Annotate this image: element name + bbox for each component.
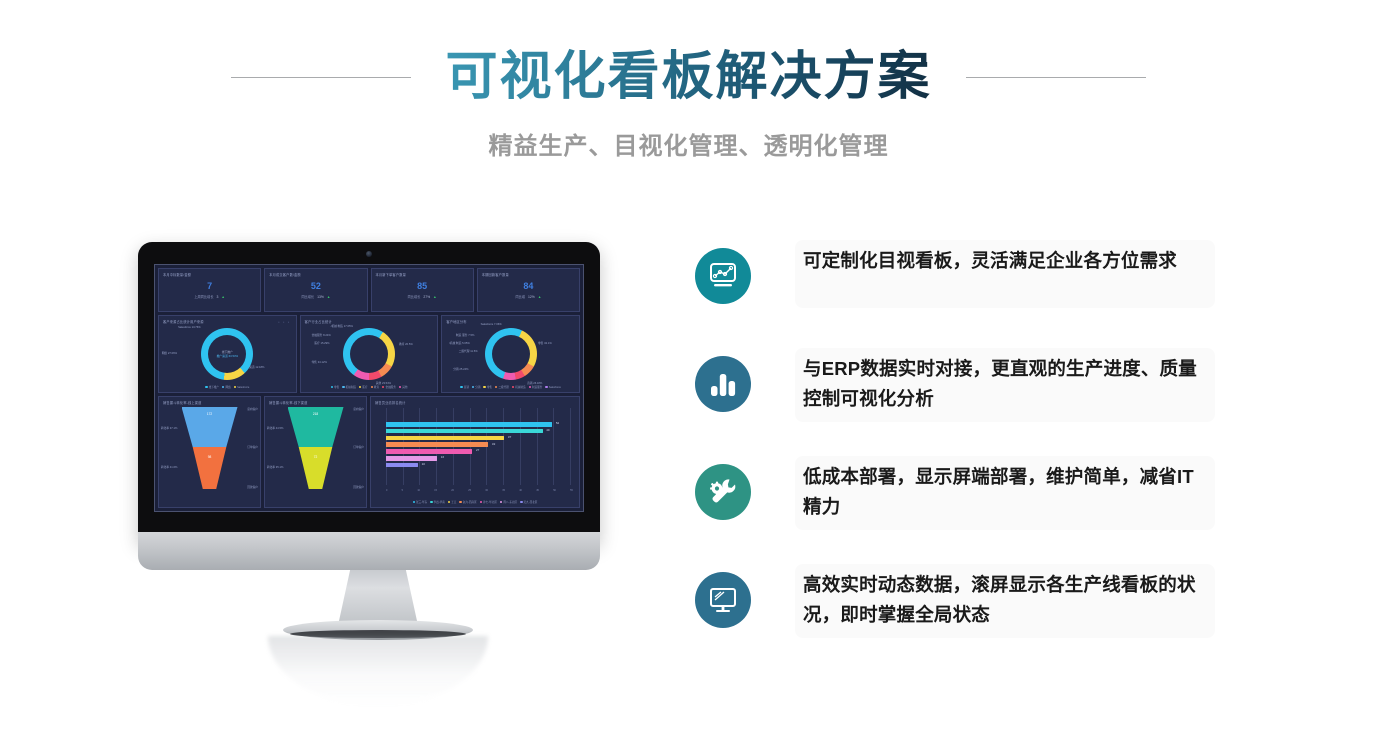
funnel-stage-label: 订单客户 xyxy=(247,445,258,449)
legend-label: 线下推广 xyxy=(209,385,219,389)
legend-swatch xyxy=(342,386,344,388)
donut-center-label: 线下推广推广渠道 63.53% xyxy=(217,350,238,358)
kpi-sub-label: 上周同比增长 xyxy=(194,294,213,299)
feature-item-4: 高效实时动态数据，滚屏显示各生产线看板的状况，即时掌握全局状态 xyxy=(690,564,1230,672)
bar-value: 16 xyxy=(441,455,444,459)
legend-entry: 张三-华东 xyxy=(413,500,428,504)
funnel-top-value: 218 xyxy=(313,412,318,416)
x-tick: 50 xyxy=(553,489,556,492)
wrench-gear-icon xyxy=(695,464,751,520)
funnel-bottom-value: 98 xyxy=(208,455,212,459)
legend-swatch xyxy=(222,386,224,388)
funnel-stage-label: 回款客户 xyxy=(353,485,364,489)
bar: 16 xyxy=(386,456,437,461)
legend-label: 分销 xyxy=(475,385,480,389)
funnel-stage: 21872意向客户订单客户回款客户转化率 44.5%转化率 35.1% xyxy=(265,407,366,501)
kpi-subline: 同比增长13%▲ xyxy=(301,294,330,299)
donut-label: 分销 25.24% xyxy=(453,367,468,371)
kpi-sub-value: 12% xyxy=(528,295,535,299)
monitor-mockup: 本月中标数量/金额7上周同比增长3▲本月成交客户数/金额52同比增长13%▲本月… xyxy=(118,232,638,672)
legend-label: 金融服务 xyxy=(385,385,395,389)
x-tick: 20 xyxy=(451,489,454,492)
legend-label: 零售 xyxy=(487,385,492,389)
kpi-value: 85 xyxy=(417,281,427,292)
legend-label: 制造服务 xyxy=(532,385,542,389)
bar: 37 xyxy=(386,436,504,441)
legend-label: Salesforce xyxy=(549,386,561,389)
bar-chart-legend: 张三-华东李四-华南王五赵六-西南区孙七-华北区周八-东北区吴九-西北区 xyxy=(371,500,579,504)
donut-label: 渠道 12.18% xyxy=(249,365,264,369)
legend-entry: 制造服务 xyxy=(529,385,543,389)
panel-menu-icon[interactable]: • • • xyxy=(278,320,290,324)
legend-entry: 王五 xyxy=(448,500,457,504)
bar: 10 xyxy=(386,463,418,468)
panel-title: 客户来源占比统计用户来源 xyxy=(163,319,204,324)
panel-title: 销售漏斗转化率-线下渠道 xyxy=(269,400,308,405)
kpi-card: 本月成交客户数/金额52同比增长13%▲ xyxy=(264,268,367,312)
legend-entry: 机械制造 xyxy=(342,385,356,389)
panel-title: 客户地区分布 xyxy=(446,319,466,324)
monitor-chin xyxy=(138,532,600,570)
funnel-panel: 销售漏斗转化率-线上渠道17298意向客户订单客户回款客户转化率 37.1%转化… xyxy=(158,396,261,508)
x-tick: 40 xyxy=(519,489,522,492)
feature-text: 低成本部署，显示屏端部署，维护简单，减省IT精力 xyxy=(795,456,1215,530)
legend-label: 孙七-华北区 xyxy=(483,500,497,504)
legend-label: 零售 xyxy=(334,385,339,389)
bar-value: 32 xyxy=(492,442,495,446)
donut-label: 网络 27.06% xyxy=(162,351,177,355)
legend-entry: 教育 xyxy=(371,385,380,389)
x-tick: 35 xyxy=(502,489,505,492)
legend-swatch xyxy=(399,386,401,388)
legend-entry: 零售 xyxy=(331,385,340,389)
kpi-card: 本期回款客户数量84同比增12%▲ xyxy=(477,268,580,312)
funnel-stage-label: 意向客户 xyxy=(353,407,364,411)
legend-swatch xyxy=(331,386,333,388)
x-tick: 30 xyxy=(485,489,488,492)
donut-label: 零售 32.1% xyxy=(538,341,552,345)
title-rule-left xyxy=(231,77,411,78)
legend-swatch xyxy=(545,386,547,388)
monitor-screen: 本月中标数量/金额7上周同比增长3▲本月成交客户数/金额52同比增长13%▲本月… xyxy=(154,264,584,512)
page-title: 可视化看板解决方案 xyxy=(445,45,931,109)
kpi-value: 7 xyxy=(207,281,212,292)
legend-label: 赵六-西南区 xyxy=(463,500,477,504)
legend-label: 医疗 xyxy=(362,385,367,389)
legend-swatch xyxy=(234,386,236,388)
legend-entry: 线下推广 xyxy=(205,385,219,389)
legend-label: Salesforce xyxy=(237,386,249,389)
funnel-bottom-value: 72 xyxy=(314,455,318,459)
legend-swatch xyxy=(512,386,514,388)
donut-panel: 客户来源占比统计用户来源• • •Salesforce 13.76%网络 27.… xyxy=(158,315,297,393)
donut-legend: 直销分销零售二级代理机械制造制造服务Salesforce xyxy=(442,385,579,389)
funnel-stage-label: 意向客户 xyxy=(247,407,258,411)
kpi-value: 84 xyxy=(523,281,533,292)
legend-label: 周八-东北区 xyxy=(503,500,517,504)
legend-entry: Salesforce xyxy=(545,385,561,389)
legend-entry: 孙七-华北区 xyxy=(480,500,497,504)
donut-row: 客户来源占比统计用户来源• • •Salesforce 13.76%网络 27.… xyxy=(158,315,580,393)
kpi-sub-value: 3 xyxy=(217,295,219,299)
legend-label: 其他 xyxy=(402,385,407,389)
kpi-sub-label: 同比增长 xyxy=(301,294,314,299)
webcam-icon xyxy=(366,251,372,257)
legend-entry: 网络 xyxy=(222,385,231,389)
legend-swatch xyxy=(460,386,462,388)
legend-entry: 赵六-西南区 xyxy=(459,500,476,504)
legend-entry: 李四-华南 xyxy=(430,500,445,504)
donut-panel: 客户地区分布Salesforce 7.06%制造 服务 7.5%/机械 制造 5… xyxy=(441,315,580,393)
legend-label: 机械制造 xyxy=(515,385,525,389)
kpi-sub-value: 27% xyxy=(423,295,430,299)
donut-label: 教育 20.5% xyxy=(399,342,413,346)
legend-label: 二级代理 xyxy=(498,385,508,389)
legend-swatch xyxy=(520,501,522,503)
kpi-subline: 上周同比增长3▲ xyxy=(194,294,224,299)
donut-legend: 线下推广网络Salesforce xyxy=(159,385,296,389)
x-tick: 15 xyxy=(434,489,437,492)
legend-label: 网络 xyxy=(225,385,230,389)
donut-legend: 零售机械制造医疗教育金融服务其他 xyxy=(301,385,438,389)
legend-swatch xyxy=(430,501,432,503)
page-subtitle: 精益生产、目视化管理、透明化管理 xyxy=(0,126,1377,161)
dashboard: 本月中标数量/金额7上周同比增长3▲本月成交客户数/金额52同比增长13%▲本月… xyxy=(155,265,583,511)
bar-value: 49 xyxy=(546,428,549,432)
donut-chart xyxy=(343,328,395,380)
legend-swatch xyxy=(382,386,384,388)
funnel-segment-bottom xyxy=(182,447,238,489)
kpi-card: 本月新下单客户数量85同比增长27%▲ xyxy=(371,268,474,312)
kpi-row: 本月中标数量/金额7上周同比增长3▲本月成交客户数/金额52同比增长13%▲本月… xyxy=(158,268,580,312)
legend-entry: Salesforce xyxy=(234,385,250,389)
panel-title: 客户行业占比统计 xyxy=(305,319,332,324)
x-tick: 5 xyxy=(402,489,403,492)
donut-label: 零售 34.12% xyxy=(312,360,327,364)
monitor-reflection xyxy=(268,636,488,706)
donut-label: 其他 23.54% xyxy=(376,381,391,385)
funnel-stage-label: 订单客户 xyxy=(353,445,364,449)
x-tick: 0 xyxy=(386,489,387,492)
page-root: 可视化看板解决方案 精益生产、目视化管理、透明化管理 本月中标数量/金额7上周同… xyxy=(0,0,1377,753)
donut-label: Salesforce 13.76% xyxy=(178,326,201,329)
funnel-top-value: 172 xyxy=(207,412,212,416)
legend-swatch xyxy=(529,386,531,388)
x-tick: 25 xyxy=(468,489,471,492)
donut-label: Salesforce 7.06% xyxy=(481,323,502,326)
trend-up-icon: ▲ xyxy=(327,295,330,299)
legend-entry: 二级代理 xyxy=(495,385,509,389)
donut-label: /机械 制造 17.65% xyxy=(331,324,353,328)
donut-label: 制造 服务 7.5% xyxy=(456,333,474,337)
bar-chart-icon xyxy=(695,356,751,412)
legend-swatch xyxy=(205,386,207,388)
legend-label: 教育 xyxy=(374,385,379,389)
kpi-card: 本月中标数量/金额7上周同比增长3▲ xyxy=(158,268,261,312)
x-tick: 45 xyxy=(536,489,539,492)
legend-entry: 分销 xyxy=(472,385,481,389)
trend-up-icon: ▲ xyxy=(538,295,541,299)
legend-label: 张三-华东 xyxy=(416,500,427,504)
legend-swatch xyxy=(459,501,461,503)
bar: 52 xyxy=(386,422,552,427)
funnel-rate-label: 转化率 41.6% xyxy=(161,465,177,469)
funnel-segment-bottom xyxy=(288,447,344,489)
donut-center-line2: 推广渠道 63.53% xyxy=(217,354,238,358)
donut-label: 二级代理 11.5% xyxy=(459,349,478,353)
x-tick: 55 xyxy=(570,489,573,492)
monitor-screen-icon xyxy=(695,572,751,628)
bar: 27 xyxy=(386,449,472,454)
legend-entry: 直销 xyxy=(460,385,469,389)
legend-swatch xyxy=(413,501,415,503)
legend-swatch xyxy=(495,386,497,388)
legend-entry: 机械制造 xyxy=(512,385,526,389)
page-header: 可视化看板解决方案 精益生产、目视化管理、透明化管理 xyxy=(0,0,1377,185)
x-axis: 0510152025303540455055 xyxy=(386,489,573,492)
funnel-rate-label: 转化率 44.5% xyxy=(267,426,283,430)
donut-panel: 客户行业占比统计/机械 制造 17.65%金融服务 8.24%医疗 15.29%… xyxy=(300,315,439,393)
bottom-row: 销售漏斗转化率-线上渠道17298意向客户订单客户回款客户转化率 37.1%转化… xyxy=(158,396,580,508)
bar-value: 37 xyxy=(508,435,511,439)
kpi-title: 本期回款客户数量 xyxy=(482,272,509,277)
bar-value: 27 xyxy=(476,448,479,452)
bar: 32 xyxy=(386,442,488,447)
legend-label: 李四-华南 xyxy=(434,500,445,504)
bar-value: 10 xyxy=(422,462,425,466)
monitor-bezel: 本月中标数量/金额7上周同比增长3▲本月成交客户数/金额52同比增长13%▲本月… xyxy=(138,242,600,542)
panel-title: 销售员业绩排名统计 xyxy=(375,400,406,405)
feature-text: 高效实时动态数据，滚屏显示各生产线看板的状况，即时掌握全局状态 xyxy=(795,564,1215,638)
donut-label: 金融服务 8.24% xyxy=(312,333,331,337)
legend-swatch xyxy=(448,501,450,503)
feature-item-2: 与ERP数据实时对接，更直观的生产进度、质量控制可视化分析 xyxy=(690,348,1230,456)
legend-entry: 金融服务 xyxy=(382,385,396,389)
legend-swatch xyxy=(472,386,474,388)
legend-swatch xyxy=(480,501,482,503)
kpi-sub-label: 同比增长 xyxy=(408,294,421,299)
legend-entry: 周八-东北区 xyxy=(500,500,517,504)
donut-chart xyxy=(485,328,537,380)
feature-text: 可定制化目视看板，灵活满足企业各方位需求 xyxy=(795,240,1215,308)
funnel-stage-label: 回款客户 xyxy=(247,485,258,489)
bar-chart-plot: 524937322716100510152025303540455055 xyxy=(377,408,573,493)
kpi-subline: 同比增12%▲ xyxy=(515,294,541,299)
legend-entry: 其他 xyxy=(399,385,408,389)
legend-entry: 零售 xyxy=(483,385,492,389)
bar-track: 52493732271610 xyxy=(386,422,573,469)
feature-item-3: 低成本部署，显示屏端部署，维护简单，减省IT精力 xyxy=(690,456,1230,564)
legend-entry: 医疗 xyxy=(359,385,368,389)
legend-swatch xyxy=(483,386,485,388)
legend-swatch xyxy=(359,386,361,388)
trend-up-icon: ▲ xyxy=(221,295,224,299)
x-tick: 10 xyxy=(417,489,420,492)
donut-stage: 线下推广推广渠道 63.53% xyxy=(159,325,296,383)
bar: 49 xyxy=(386,429,543,434)
feature-item-1: 可定制化目视看板，灵活满足企业各方位需求 xyxy=(690,240,1230,348)
donut-chart: 线下推广推广渠道 63.53% xyxy=(201,328,253,380)
title-rule-right xyxy=(966,77,1146,78)
legend-swatch xyxy=(500,501,502,503)
funnel-rate-label: 转化率 37.1% xyxy=(161,426,177,430)
funnel-rate-label: 转化率 35.1% xyxy=(267,465,283,469)
legend-entry: 吴九-西北区 xyxy=(520,500,537,504)
trend-up-icon: ▲ xyxy=(433,295,436,299)
legend-label: 吴九-西北区 xyxy=(524,500,538,504)
kpi-subline: 同比增长27%▲ xyxy=(408,294,437,299)
title-row: 可视化看板解决方案 xyxy=(0,42,1377,112)
panel-title: 销售漏斗转化率-线上渠道 xyxy=(163,400,202,405)
legend-label: 直销 xyxy=(464,385,469,389)
kpi-title: 本月中标数量/金额 xyxy=(163,272,191,277)
feature-list: 可定制化目视看板，灵活满足企业各方位需求 与ERP数据实时对接，更直观的生产进度… xyxy=(690,240,1230,672)
donut-label: /机械 制造 5.65% xyxy=(449,341,470,345)
kpi-sub-label: 同比增 xyxy=(515,294,525,299)
donut-label: 医疗 15.29% xyxy=(314,341,329,345)
kpi-value: 52 xyxy=(311,281,321,292)
kpi-sub-value: 13% xyxy=(317,295,324,299)
bar-chart-panel: 销售员业绩排名统计5249373227161005101520253035404… xyxy=(370,396,580,508)
feature-text: 与ERP数据实时对接，更直观的生产进度、质量控制可视化分析 xyxy=(795,348,1215,422)
legend-label: 机械制造 xyxy=(346,385,356,389)
bar-value: 52 xyxy=(556,421,559,425)
funnel-stage: 17298意向客户订单客户回款客户转化率 37.1%转化率 41.6% xyxy=(159,407,260,501)
kpi-title: 本月新下单客户数量 xyxy=(376,272,407,277)
legend-swatch xyxy=(371,386,373,388)
funnel-panel: 销售漏斗转化率-线下渠道21872意向客户订单客户回款客户转化率 44.5%转化… xyxy=(264,396,367,508)
kpi-title: 本月成交客户数/金额 xyxy=(269,272,301,277)
monitor-line-chart-icon xyxy=(695,248,751,304)
legend-label: 王五 xyxy=(451,500,456,504)
donut-label: 直销 26.18% xyxy=(527,381,542,385)
